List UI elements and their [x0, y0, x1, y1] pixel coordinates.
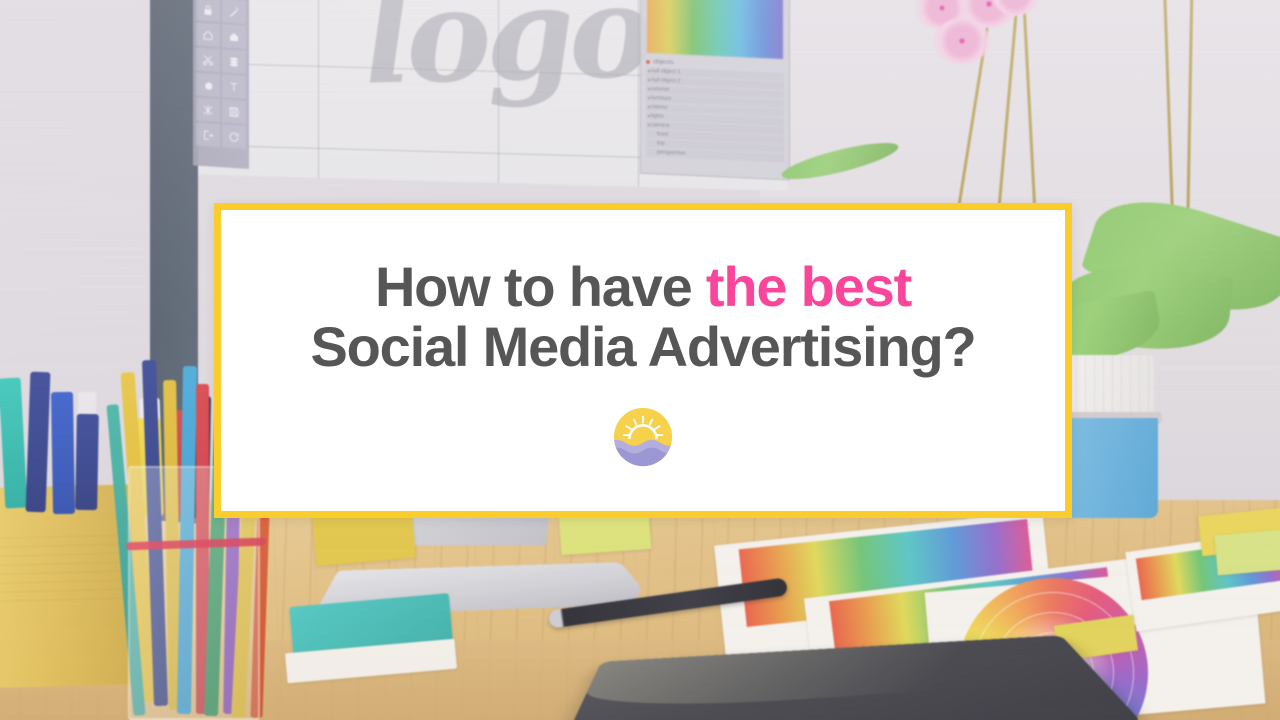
objects-list[interactable]: null object 1 null object 2 exterior fur…: [641, 66, 789, 167]
home-filled-icon[interactable]: [222, 24, 246, 49]
list-item-label: camera: [651, 122, 669, 129]
monitor: logo: [150, 0, 780, 209]
sticky-note: [1214, 529, 1280, 576]
headline-line1-accent: the best: [706, 255, 911, 318]
marker: [51, 392, 75, 514]
objects-section-label: objects: [653, 58, 674, 66]
color-picker-gradient[interactable]: [647, 0, 783, 59]
magic-wand-icon[interactable]: [222, 0, 246, 24]
list-item-label: null object 1: [651, 68, 680, 75]
lock-icon[interactable]: [196, 0, 220, 22]
list-item-label: exterior: [651, 86, 669, 93]
marker: [75, 414, 99, 510]
text-icon[interactable]: [222, 74, 246, 99]
list-item-label: furniture: [651, 95, 671, 102]
plant-pot-blue: [1062, 418, 1158, 518]
list-item-label: null object 2: [651, 77, 680, 84]
page-title: How to have the best Social Media Advert…: [311, 257, 976, 376]
layers-icon[interactable]: [222, 49, 246, 74]
design-app-panel[interactable]: colors objects null object 1 null object…: [640, 0, 790, 180]
list-item-label: lights: [651, 113, 664, 120]
home-outline-icon[interactable]: [196, 23, 220, 48]
section-dot-icon: [646, 59, 650, 63]
gear-icon[interactable]: [196, 73, 220, 98]
list-item-label: top: [657, 140, 665, 146]
brand-logo: [612, 406, 674, 468]
headline-line2: Social Media Advertising?: [311, 317, 976, 376]
save-icon[interactable]: [222, 99, 246, 124]
tools-icon[interactable]: [196, 98, 220, 123]
canvas-logo-artwork: logo: [360, 0, 651, 103]
list-item-label: front: [657, 131, 668, 137]
headline-line1-plain: How to have: [375, 255, 706, 318]
refresh-icon[interactable]: [222, 124, 246, 149]
slide-canvas: logo: [0, 0, 1280, 720]
export-icon[interactable]: [196, 123, 220, 148]
scissors-icon[interactable]: [196, 48, 220, 73]
list-item-label: interior: [651, 104, 668, 111]
list-item-label: perspective: [657, 149, 685, 156]
orchid-flower: [934, 18, 990, 64]
title-card: How to have the best Social Media Advert…: [214, 203, 1072, 518]
design-app-toolbar[interactable]: [193, 0, 249, 169]
